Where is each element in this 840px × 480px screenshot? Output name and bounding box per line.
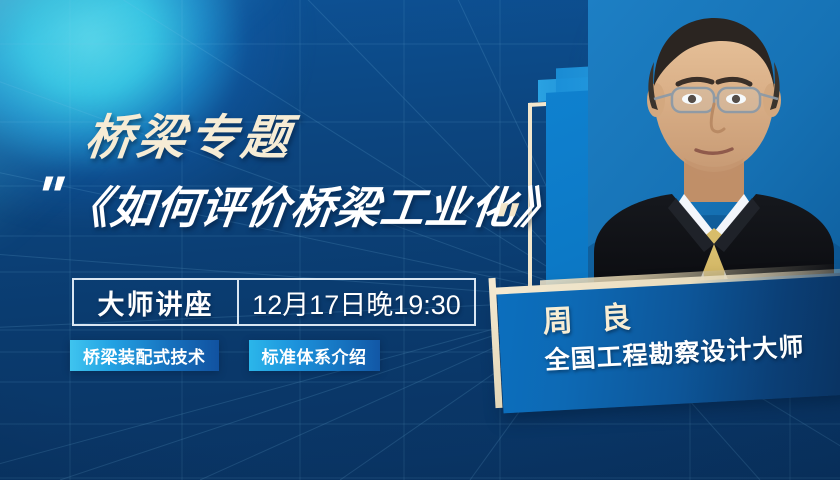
topic-tag-2[interactable]: 标准体系介绍 <box>249 340 380 371</box>
topic-tag-1[interactable]: 桥梁装配式技术 <box>70 340 219 371</box>
speaker-nameplate: 周 良 全国工程勘察设计大师 <box>497 273 840 414</box>
poster-headline: 《如何评价桥梁工业化》 <box>62 172 565 236</box>
poster-kicker: 桥梁专题 <box>82 98 299 168</box>
lecture-label: 大师讲座 <box>98 283 214 322</box>
lecture-info-bar: 大师讲座 12月17日晚19:30 <box>72 278 476 326</box>
poster-canvas: 周 良 全国工程勘察设计大师 桥梁专题 " 《如何评价桥梁工业化》 " 大师讲座… <box>0 0 840 480</box>
lecture-label-cell: 大师讲座 <box>74 280 239 324</box>
topic-tag-list: 桥梁装配式技术 标准体系介绍 <box>70 340 380 371</box>
speaker-portrait <box>588 0 840 300</box>
lecture-date-cell: 12月17日晚19:30 <box>239 280 474 324</box>
lecture-date: 12月17日晚19:30 <box>252 283 461 322</box>
